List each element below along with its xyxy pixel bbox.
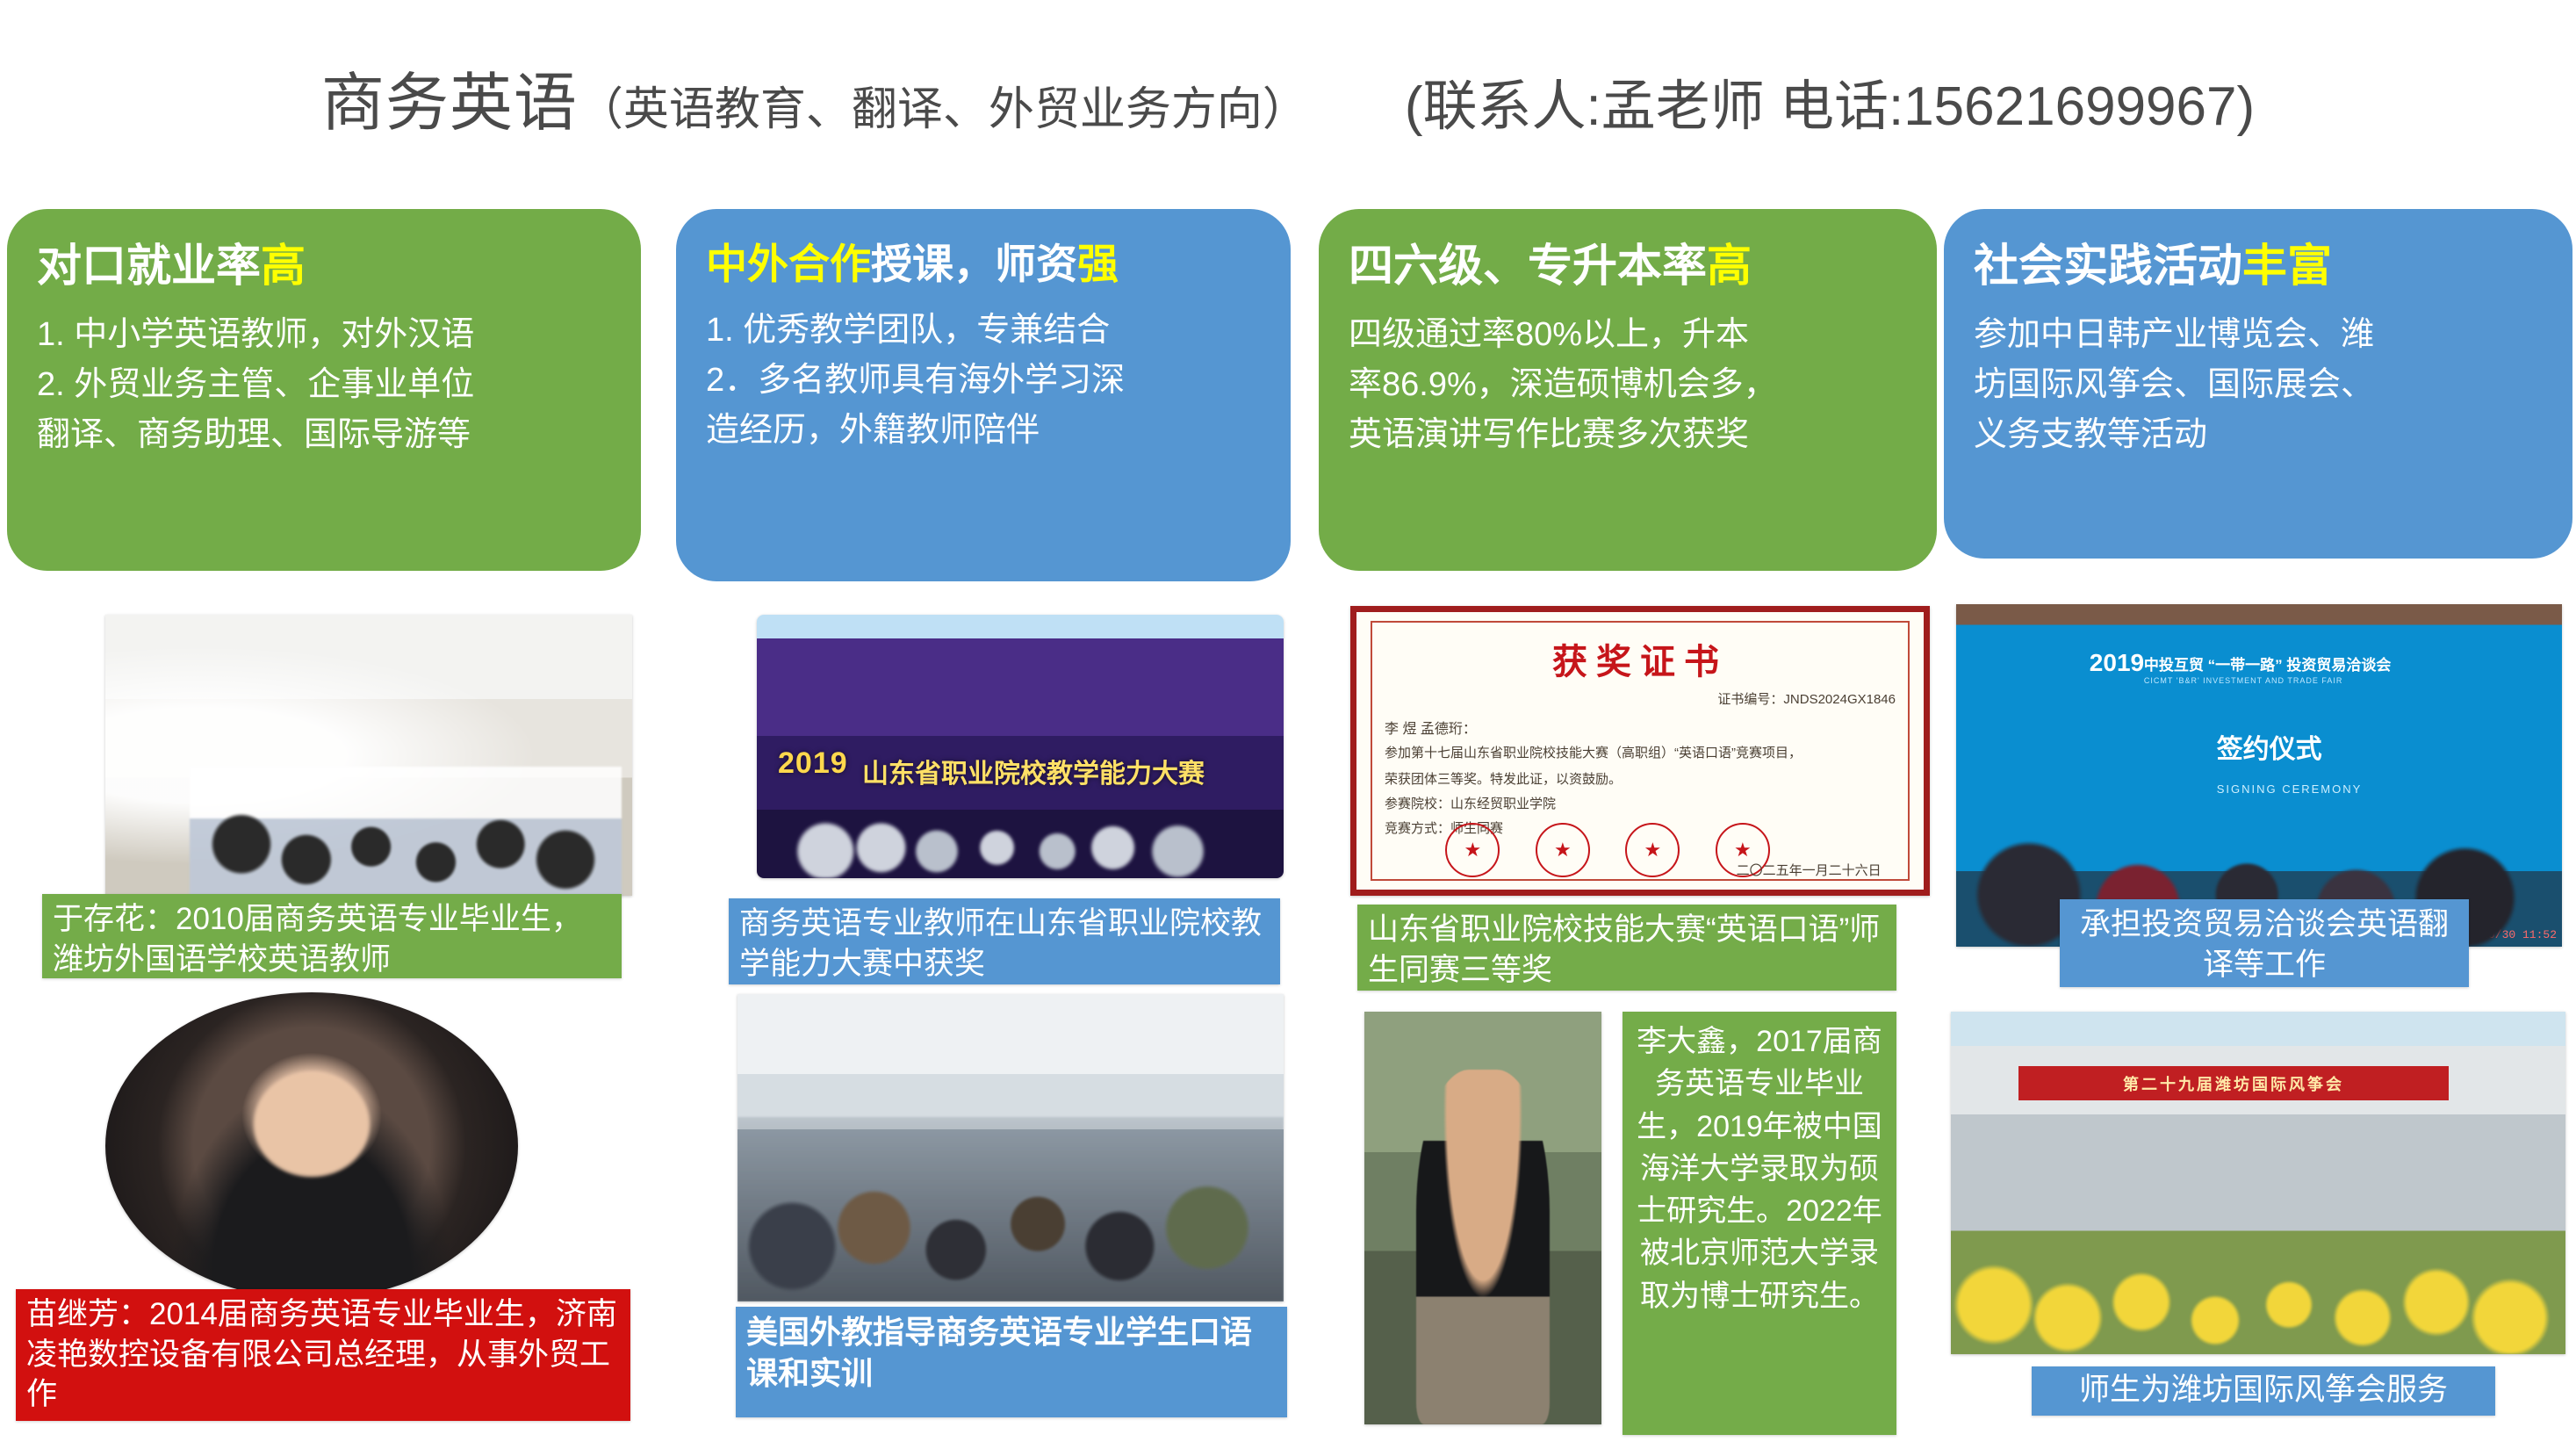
teaching-competition-stage-photo: 2019 山东省职业院校教学能力大赛 — [757, 615, 1284, 878]
certificate-school: 参赛院校：山东经贸职业学院 — [1385, 794, 1896, 815]
caption-text: 承担投资贸易洽谈会英语翻译等工作 — [2080, 907, 2449, 982]
caption-skills-contest: 山东省职业院校技能大赛“英语口语”师生同赛三等奖 — [1357, 905, 1896, 991]
contact-info: (联系人:孟老师 电话:15621699967) — [1405, 61, 2255, 141]
caption-yucunhua: 于存花：2010届商务英语专业毕业生，潍坊外国语学校英语教师 — [42, 894, 622, 978]
caption-lidaxin: 李大鑫，2017届商务英语专业毕业生，2019年被中国海洋大学录取为硕士研究生。… — [1623, 1012, 1896, 1435]
caption-kite-service: 师生为潍坊国际风筝会服务 — [2032, 1366, 2495, 1416]
seal-icon — [1536, 823, 1590, 877]
card-title-mid: 师资 — [995, 241, 1077, 287]
certificate-body-line2: 荣获团体三等奖。特发此证，以资鼓励。 — [1385, 769, 1896, 790]
card-title-highlight: 高 — [1707, 241, 1752, 291]
card-title-text: 四六级、专升本率 — [1349, 241, 1707, 291]
card-line: 率86.9%，深造硕博机会多， — [1349, 360, 1907, 410]
caption-us-teacher: 美国外教指导商务英语专业学生口语课和实训 — [736, 1307, 1287, 1417]
award-certificate-photo: 获奖证书 证书编号：JNDS2024GX1846 李 煜 孟德珩： 参加第十七届… — [1350, 606, 1930, 896]
certificate-title: 获奖证书 — [1385, 633, 1896, 684]
feature-card-row: 对口就业率高 1. 中小学英语教师，对外汉语 2. 外贸业务主管、企事业单位 翻… — [0, 209, 2576, 587]
certificate-school-value: 山东经贸职业学院 — [1450, 797, 1556, 811]
card-body-social-practice: 参加中日韩产业博览会、潍 坊国际风筝会、国际展会、 义务支教等活动 — [1974, 310, 2543, 460]
card-title-text: 授课， — [871, 241, 995, 287]
signing-ceremony-cn: 签约仪式 — [2217, 727, 2322, 766]
signing-banner-year: 2019 — [2090, 649, 2144, 677]
caption-trade-fair-work: 承担投资贸易洽谈会英语翻译等工作 — [2060, 899, 2469, 987]
card-line: 坊国际风筝会、国际展会、 — [1974, 360, 2543, 410]
card-title-highlight: 强 — [1077, 241, 1119, 287]
card-line: 义务支教等活动 — [1974, 410, 2543, 460]
card-title-text: 社会实践活动 — [1974, 241, 2242, 291]
seal-icon — [1445, 823, 1500, 877]
foreign-teacher-workshop-photo — [738, 994, 1284, 1301]
feature-card-employment: 对口就业率高 1. 中小学英语教师，对外汉语 2. 外贸业务主管、企事业单位 翻… — [7, 209, 641, 571]
caption-text: 李大鑫，2017届商务英语专业毕业生，2019年被中国海洋大学录取为硕士研究生。… — [1637, 1025, 1882, 1313]
feature-card-social-practice: 社会实践活动丰富 参加中日韩产业博览会、潍 坊国际风筝会、国际展会、 义务支教等… — [1944, 209, 2572, 559]
card-line: 2．多名教师具有海外学习深 — [706, 356, 1261, 406]
caption-text: 山东省职业院校技能大赛“英语口语”师生同赛三等奖 — [1368, 912, 1880, 987]
stage-banner-text: 山东省职业院校教学能力大赛 — [862, 752, 1205, 790]
page-header: 商务英语 （英语教育、翻译、外贸业务方向） (联系人:孟老师 电话:156216… — [0, 51, 2576, 149]
page-title: 商务英语 — [321, 51, 578, 143]
card-line: 2. 外贸业务主管、企事业单位 — [37, 360, 611, 410]
card-title-exam-rates: 四六级、专升本率高 — [1349, 241, 1907, 292]
card-title-highlight: 高 — [261, 241, 306, 291]
poster-root: 商务英语 （英语教育、翻译、外贸业务方向） (联系人:孟老师 电话:156216… — [0, 0, 2576, 1449]
page-subtitle: （英语教育、翻译、外贸业务方向） — [578, 72, 1308, 138]
signing-ceremony-en: SIGNING CEREMONY — [2217, 782, 2363, 796]
caption-miaojifang: 苗继芳：2014届商务英语专业毕业生，济南凌艳数控设备有限公司总经理，从事外贸工… — [16, 1289, 630, 1421]
signing-banner-fair-cn: 中投互贸 “一带一路” 投资贸易洽谈会 — [2144, 652, 2391, 674]
caption-text: 苗继芳：2014届商务英语专业毕业生，济南凌艳数控设备有限公司总经理，从事外贸工… — [26, 1297, 617, 1411]
investment-trade-fair-signing-photo: 2019 中投互贸 “一带一路” 投资贸易洽谈会 CICMT 'B&R' INV… — [1956, 604, 2562, 947]
card-line: 英语演讲写作比赛多次获奖 — [1349, 410, 1907, 460]
card-title-faculty: 中外合作授课，师资强 — [706, 241, 1261, 288]
card-line: 造经历，外籍教师陪伴 — [706, 406, 1261, 456]
card-title-text: 对口就业率 — [37, 241, 261, 291]
certificate-inner: 获奖证书 证书编号：JNDS2024GX1846 李 煜 孟德珩： 参加第十七届… — [1371, 621, 1910, 881]
card-line: 参加中日韩产业博览会、潍 — [1974, 310, 2543, 360]
card-line: 翻译、商务助理、国际导游等 — [37, 410, 611, 460]
caption-text: 商务英语专业教师在山东省职业院校教学能力大赛中获奖 — [739, 906, 1262, 981]
card-line: 1. 优秀教学团队，专兼结合 — [706, 306, 1261, 356]
certificate-school-label: 参赛院校： — [1385, 797, 1450, 811]
signing-banner-fair-en: CICMT 'B&R' INVESTMENT AND TRADE FAIR — [2144, 676, 2342, 685]
caption-text: 师生为潍坊国际风筝会服务 — [2079, 1373, 2448, 1407]
card-line: 四级通过率80%以上，升本 — [1349, 310, 1907, 360]
certificate-recipients: 李 煜 孟德珩： — [1385, 717, 1896, 738]
card-title-employment: 对口就业率高 — [37, 241, 611, 292]
card-title-lead: 中外合作 — [706, 241, 871, 287]
certificate-body-line1: 参加第十七届山东省职业院校技能大赛（高职组）“英语口语”竞赛项目， — [1385, 743, 1896, 764]
caption-teacher-award: 商务英语专业教师在山东省职业院校教学能力大赛中获奖 — [729, 898, 1280, 984]
male-graduate-photo — [1364, 1012, 1601, 1424]
certificate-number-value: JNDS2024GX1846 — [1783, 692, 1896, 707]
certificate-date: 二〇二五年一月二十六日 — [1737, 861, 1882, 879]
card-title-social-practice: 社会实践活动丰富 — [1974, 241, 2543, 292]
card-line: 1. 中小学英语教师，对外汉语 — [37, 310, 611, 360]
stage-banner-year: 2019 — [778, 746, 848, 781]
card-body-faculty: 1. 优秀教学团队，专兼结合 2．多名教师具有海外学习深 造经历，外籍教师陪伴 — [706, 306, 1261, 456]
classroom-photo — [105, 615, 632, 896]
kite-festival-group-photo: 第二十九届潍坊国际风筝会 — [1951, 1012, 2565, 1354]
card-body-employment: 1. 中小学英语教师，对外汉语 2. 外贸业务主管、企事业单位 翻译、商务助理、… — [37, 310, 611, 460]
certificate-number-label: 证书编号： — [1717, 692, 1783, 707]
female-graduate-portrait — [105, 992, 518, 1300]
feature-card-faculty: 中外合作授课，师资强 1. 优秀教学团队，专兼结合 2．多名教师具有海外学习深 … — [676, 209, 1291, 581]
feature-card-exam-rates: 四六级、专升本率高 四级通过率80%以上，升本 率86.9%，深造硕博机会多， … — [1319, 209, 1937, 571]
card-title-highlight: 丰富 — [2242, 241, 2332, 291]
certificate-number: 证书编号：JNDS2024GX1846 — [1385, 689, 1896, 708]
kite-festival-banner: 第二十九届潍坊国际风筝会 — [2018, 1066, 2449, 1100]
seal-icon — [1625, 823, 1680, 877]
caption-text: 于存花：2010届商务英语专业毕业生，潍坊外国语学校英语教师 — [53, 902, 582, 977]
caption-text: 美国外教指导商务英语专业学生口语课和实训 — [746, 1314, 1252, 1391]
certificate-seals: 二〇二五年一月二十六日 — [1436, 821, 1886, 877]
card-body-exam-rates: 四级通过率80%以上，升本 率86.9%，深造硕博机会多， 英语演讲写作比赛多次… — [1349, 310, 1907, 460]
